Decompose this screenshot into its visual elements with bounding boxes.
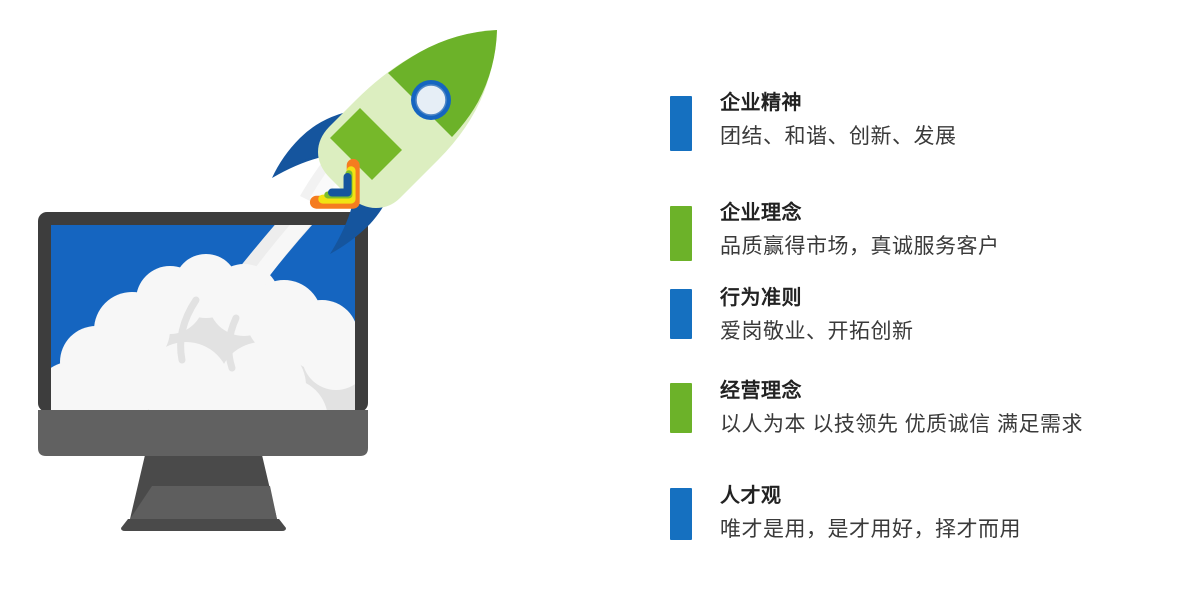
rocket-porthole — [411, 80, 451, 120]
value-description: 唯才是用，是才用好，择才而用 — [720, 514, 1180, 546]
value-description: 品质赢得市场，真诚服务客户 — [720, 231, 1180, 263]
blue-marker — [670, 488, 692, 540]
core-values-list: 企业精神 团结、和谐、创新、发展 企业理念 品质赢得市场，真诚服务客户 行为准则… — [660, 0, 1180, 606]
value-text-block: 行为准则 爱岗敬业、开拓创新 — [720, 285, 1180, 348]
green-marker — [670, 206, 692, 261]
value-title: 企业精神 — [720, 90, 1180, 117]
monitor-chin — [38, 410, 368, 456]
value-title: 经营理念 — [720, 378, 1180, 405]
value-title: 行为准则 — [720, 285, 1180, 312]
value-text-block: 经营理念 以人为本 以技领先 优质诚信 满足需求 — [720, 378, 1180, 441]
blue-marker — [670, 289, 692, 339]
value-title: 企业理念 — [720, 200, 1180, 227]
green-marker — [670, 383, 692, 433]
rocket-monitor-illustration — [0, 0, 560, 606]
value-description: 以人为本 以技领先 优质诚信 满足需求 — [720, 409, 1180, 441]
value-title: 人才观 — [720, 483, 1180, 510]
value-text-block: 企业理念 品质赢得市场，真诚服务客户 — [720, 200, 1180, 263]
value-description: 爱岗敬业、开拓创新 — [720, 316, 1180, 348]
value-text-block: 人才观 唯才是用，是才用好，择才而用 — [720, 483, 1180, 546]
monitor-stand — [121, 455, 286, 531]
blue-marker — [670, 96, 692, 151]
value-description: 团结、和谐、创新、发展 — [720, 121, 1180, 153]
value-text-block: 企业精神 团结、和谐、创新、发展 — [720, 90, 1180, 153]
slide-canvas: 企业精神 团结、和谐、创新、发展 企业理念 品质赢得市场，真诚服务客户 行为准则… — [0, 0, 1197, 606]
